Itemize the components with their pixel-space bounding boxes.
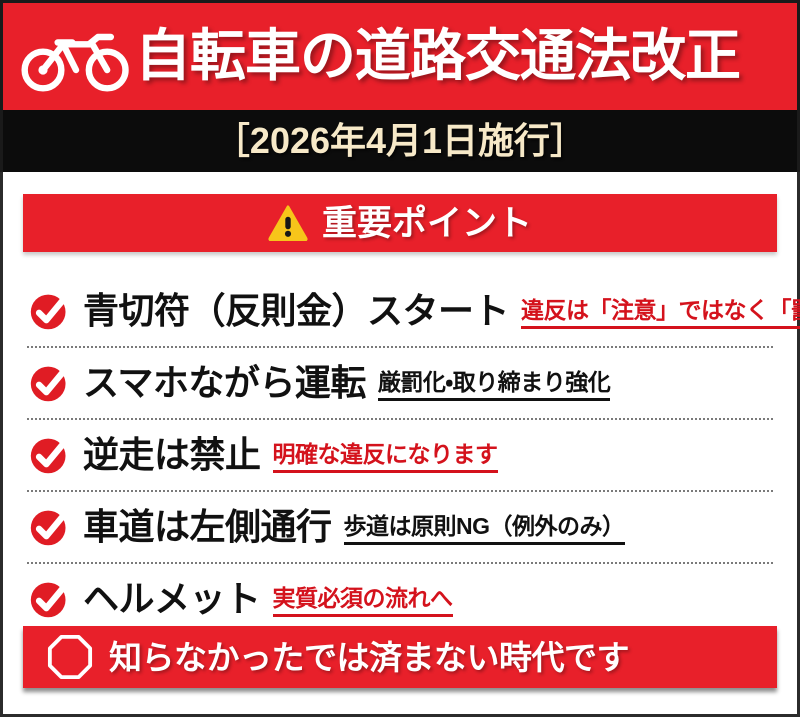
check-circle-icon: [29, 290, 71, 332]
point-main-text: ヘルメット: [83, 581, 261, 617]
list-item: 車道は左側通行 歩道は原則NG（例外のみ）: [23, 492, 777, 562]
important-points-label: 重要ポイント: [322, 206, 532, 241]
point-note-text: 違反は「注意」ではなく「罰則」に: [521, 299, 800, 329]
bicycle-icon: [21, 24, 131, 94]
point-note-text: 厳罰化・取り締まり強化: [378, 371, 610, 401]
check-circle-icon: [29, 362, 71, 404]
points-list: 青切符（反則金）スタート 違反は「注意」ではなく「罰則」に スマホながら運転 厳…: [23, 276, 777, 634]
point-main-text: スマホながら運転: [83, 365, 366, 401]
stop-octagon-icon: [47, 634, 93, 680]
check-circle-icon: [29, 578, 71, 620]
header-band: 自転車の道路交通法改正: [0, 0, 800, 110]
check-circle-icon: [29, 434, 71, 476]
poster-root: 自転車の道路交通法改正 ［2026年4月1日施行］ 重要ポイント: [0, 0, 800, 720]
list-item: 青切符（反則金）スタート 違反は「注意」ではなく「罰則」に: [23, 276, 777, 346]
bottom-warning-text: 知らなかったでは済まない時代です: [109, 641, 629, 674]
point-note-text: 歩道は原則NG（例外のみ）: [344, 515, 625, 545]
bottom-warning-banner: 知らなかったでは済まない時代です: [23, 626, 777, 688]
point-note-text: 明確な違反になります: [273, 443, 498, 473]
point-main-text: 逆走は禁止: [83, 437, 261, 473]
content-card: 重要ポイント 青切符（反則金）スタート 違反は「注意」ではなく「罰則」に: [0, 172, 800, 717]
list-item: スマホながら運転 厳罰化・取り締まり強化: [23, 348, 777, 418]
list-item: 逆走は禁止 明確な違反になります: [23, 420, 777, 490]
check-circle-icon: [29, 506, 71, 548]
subtitle-band: ［2026年4月1日施行］: [0, 110, 800, 172]
warning-triangle-icon: [268, 205, 308, 241]
list-item: ヘルメット 実質必須の流れへ: [23, 564, 777, 634]
point-note-text: 実質必須の流れへ: [273, 587, 453, 617]
effective-date-text: ［2026年4月1日施行］: [214, 123, 586, 159]
important-points-banner: 重要ポイント: [23, 194, 777, 252]
point-main-text: 青切符（反則金）スタート: [83, 293, 509, 329]
point-main-text: 車道は左側通行: [83, 509, 332, 545]
header-title: 自転車の道路交通法改正: [135, 28, 740, 84]
